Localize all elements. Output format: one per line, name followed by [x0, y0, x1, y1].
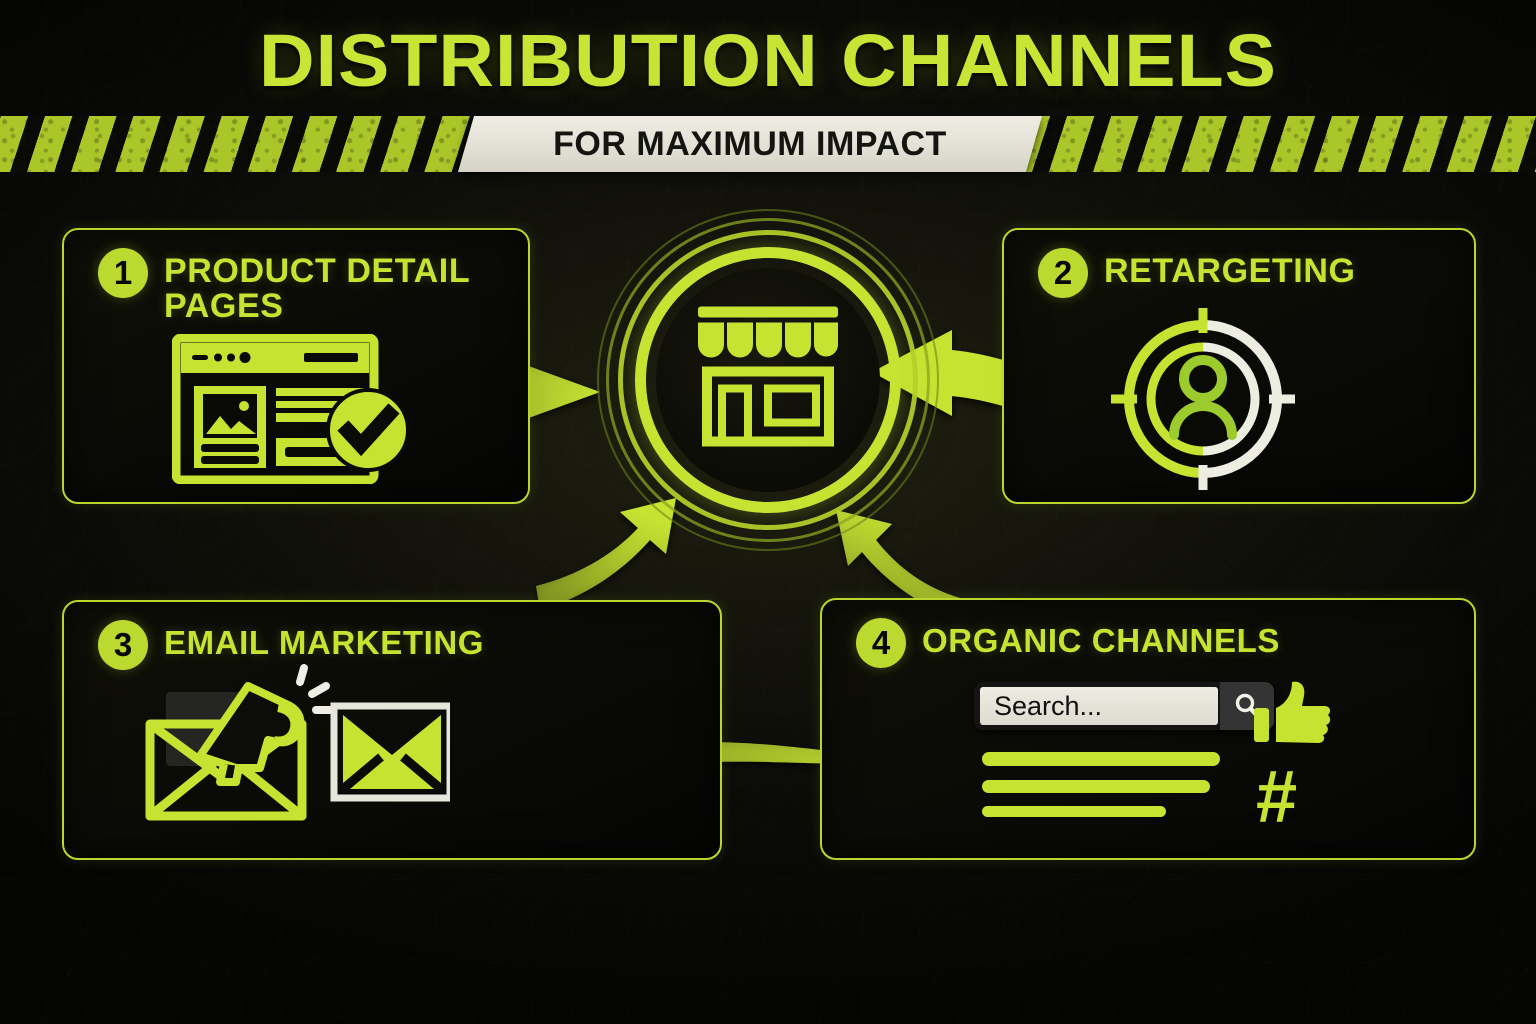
- card-1-title: PRODUCT DETAIL PAGES: [164, 248, 510, 323]
- card-email-marketing[interactable]: 3 EMAIL MARKETING: [62, 600, 722, 860]
- central-hub: [598, 210, 938, 550]
- card-product-detail-pages[interactable]: 1 PRODUCT DETAIL PAGES: [62, 228, 530, 504]
- infographic-canvas: DISTRIBUTION CHANNELS FOR MAXIMUM IMPACT: [0, 0, 1536, 1024]
- card-organic-channels[interactable]: 4 ORGANIC CHANNELS Search...: [820, 598, 1476, 860]
- storefront-icon: [684, 303, 852, 458]
- search-input[interactable]: Search...: [980, 687, 1218, 725]
- card-1-header: 1 PRODUCT DETAIL PAGES: [98, 248, 510, 323]
- search-bar[interactable]: Search...: [974, 682, 1274, 730]
- card-4-title: ORGANIC CHANNELS: [922, 618, 1280, 658]
- card-retargeting[interactable]: 2 RETARGETING: [1002, 228, 1476, 504]
- card-2-header: 2 RETARGETING: [1038, 248, 1456, 298]
- hashtag-icon: #: [1256, 760, 1297, 834]
- subtitle-banner: FOR MAXIMUM IMPACT: [458, 116, 1042, 172]
- hazard-stripes-left: [0, 116, 478, 172]
- product-page-icon: [172, 334, 432, 489]
- card-3-header: 3 EMAIL MARKETING: [98, 620, 702, 670]
- search-placeholder: Search...: [994, 691, 1102, 722]
- thumbs-up-icon: [1254, 678, 1332, 755]
- result-line-3: [982, 806, 1166, 817]
- card-2-title: RETARGETING: [1104, 248, 1356, 289]
- card-3-badge: 3: [98, 620, 148, 670]
- result-line-2: [982, 780, 1210, 793]
- card-3-title: EMAIL MARKETING: [164, 620, 484, 660]
- card-2-badge: 2: [1038, 248, 1088, 298]
- result-line-1: [982, 752, 1220, 766]
- card-1-badge: 1: [98, 248, 148, 298]
- card-4-badge: 4: [856, 618, 906, 668]
- target-person-icon: [1108, 308, 1298, 495]
- hazard-stripes-right: [1022, 116, 1536, 172]
- card-4-header: 4 ORGANIC CHANNELS: [856, 618, 1456, 668]
- envelope-megaphone-icon: [140, 664, 450, 831]
- page-title: DISTRIBUTION CHANNELS: [0, 24, 1536, 98]
- subtitle-text: FOR MAXIMUM IMPACT: [466, 116, 1034, 172]
